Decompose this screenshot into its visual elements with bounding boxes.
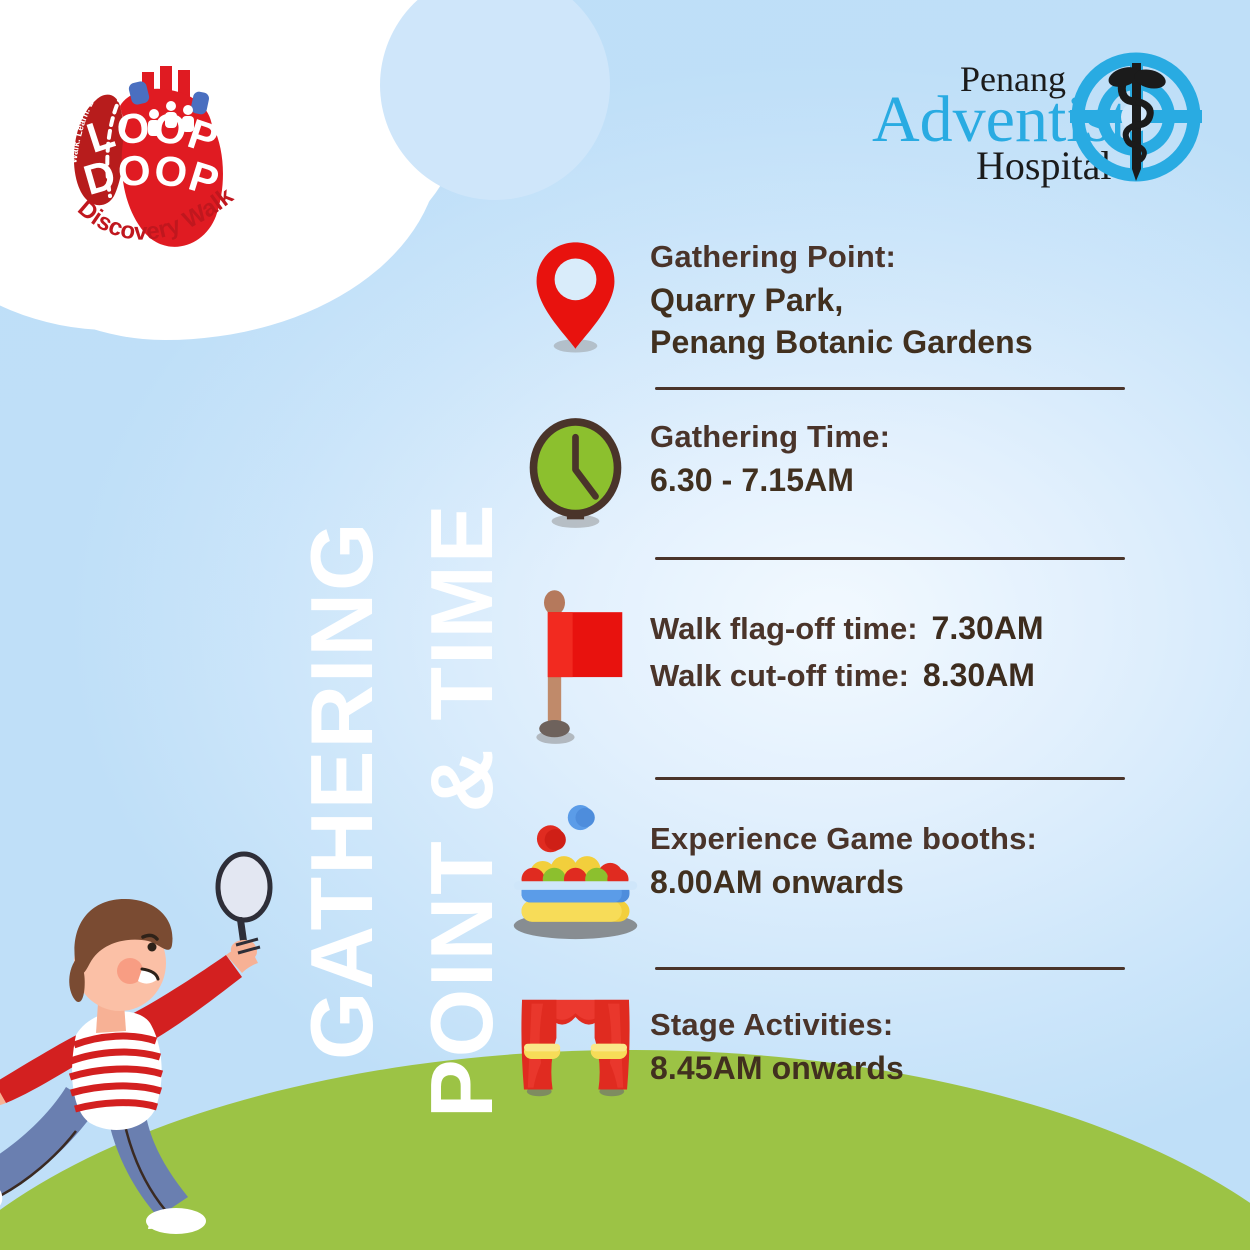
stage-curtain-icon bbox=[500, 996, 650, 1101]
clock-icon bbox=[500, 416, 650, 531]
ball-pit-icon bbox=[500, 806, 650, 941]
info-label: Gathering Time: bbox=[650, 418, 1160, 456]
walk-cut-off-time: 8.30AM bbox=[923, 657, 1035, 694]
walk-flag-off-row: Walk flag-off time: 7.30AM bbox=[650, 610, 1160, 647]
section-divider bbox=[655, 557, 1125, 560]
flag-icon bbox=[500, 586, 650, 751]
info-value-line-1: 6.30 - 7.15AM bbox=[650, 462, 1160, 500]
page-title-line-2: POINT & TIME bbox=[418, 502, 506, 1118]
info-value-line-1: Quarry Park, bbox=[650, 282, 1160, 320]
section-divider bbox=[655, 777, 1125, 780]
info-value-line-1: 8.45AM onwards bbox=[650, 1050, 1160, 1088]
magnifying-glass bbox=[218, 854, 270, 951]
info-list: Gathering Point: Quarry Park, Penang Bot… bbox=[500, 236, 1160, 1101]
info-row-gathering-time: Gathering Time: 6.30 - 7.15AM bbox=[500, 416, 1160, 531]
info-value-line-1: 8.00AM onwards bbox=[650, 864, 1160, 902]
page-title-line-1: GATHERING bbox=[298, 521, 386, 1060]
section-divider bbox=[655, 967, 1125, 970]
poster-canvas: Walk. Learn. Love Your Heart LOOP DOOP D… bbox=[0, 0, 1250, 1250]
info-row-game-booths: Experience Game booths: 8.00AM onwards bbox=[500, 806, 1160, 941]
info-value-line-2: Penang Botanic Gardens bbox=[650, 324, 1160, 362]
info-row-stage-activities: Stage Activities: 8.45AM onwards bbox=[500, 996, 1160, 1101]
hospital-logo: Penang Adventist Hospital bbox=[868, 45, 1198, 185]
walk-flag-off-label: Walk flag-off time: bbox=[650, 611, 918, 647]
loop-doop-logo: Walk. Learn. Love Your Heart LOOP DOOP D… bbox=[58, 48, 258, 276]
info-label: Gathering Point: bbox=[650, 238, 1160, 276]
walk-cut-off-label: Walk cut-off time: bbox=[650, 658, 909, 694]
info-row-gathering-point: Gathering Point: Quarry Park, Penang Bot… bbox=[500, 236, 1160, 361]
boy-with-magnifying-glass-illustration bbox=[0, 845, 310, 1245]
info-label: Experience Game booths: bbox=[650, 820, 1160, 858]
walk-flag-off-time: 7.30AM bbox=[932, 610, 1044, 647]
info-row-walk-times: Walk flag-off time: 7.30AM Walk cut-off … bbox=[500, 586, 1160, 751]
section-divider bbox=[655, 387, 1125, 390]
walk-cut-off-row: Walk cut-off time: 8.30AM bbox=[650, 657, 1160, 694]
hospital-caduceus-emblem bbox=[1070, 53, 1202, 181]
info-label: Stage Activities: bbox=[650, 1006, 1160, 1044]
map-pin-icon bbox=[500, 236, 650, 356]
